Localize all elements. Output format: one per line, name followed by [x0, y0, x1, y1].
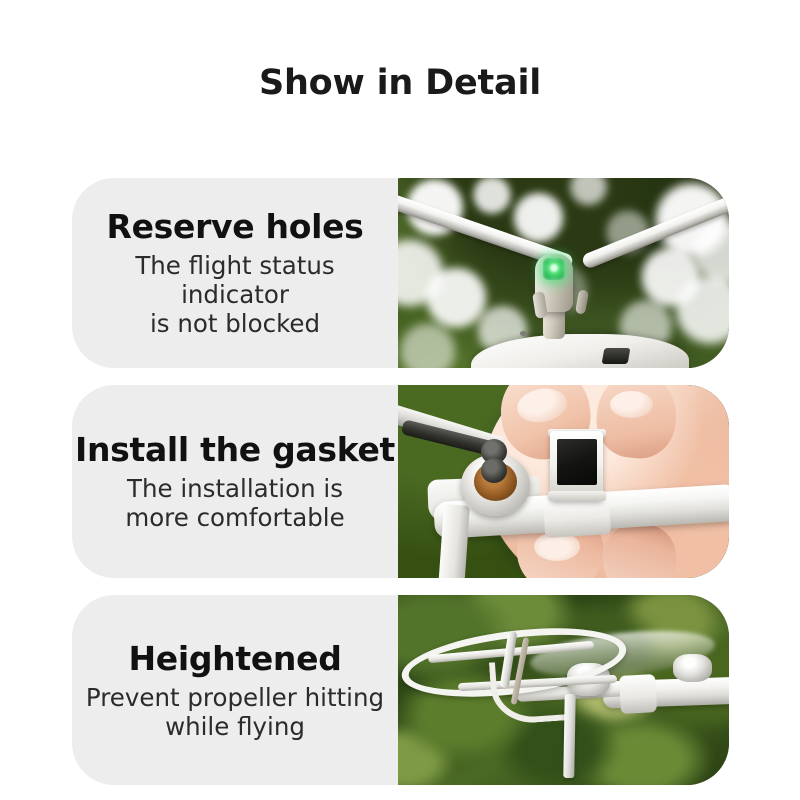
flight-status-indicator-led	[543, 258, 565, 280]
card-text-panel: Heightened Prevent propeller hitting whi…	[72, 595, 398, 785]
card-heading: Install the gasket	[75, 431, 395, 469]
drone-arm-status-indicator-photo	[398, 178, 729, 368]
card-heading: Reserve holes	[106, 208, 363, 246]
drone-motor-rear	[673, 654, 713, 683]
gasket-pad	[557, 439, 597, 485]
card-heading: Heightened	[128, 640, 341, 678]
card-text-panel: Reserve holes The flight status indicato…	[72, 178, 398, 368]
card-subtitle: The flight status indicator is not block…	[82, 251, 388, 338]
drone-landing-leg	[438, 504, 470, 578]
detail-page: Show in Detail Reserve holes The flight …	[0, 0, 800, 800]
hand-installing-gasket-photo	[398, 385, 729, 578]
drone-body-vent	[602, 348, 631, 364]
detail-card-reserve-holes[interactable]: Reserve holes The flight status indicato…	[72, 178, 729, 368]
detail-card-heightened[interactable]: Heightened Prevent propeller hitting whi…	[72, 595, 729, 785]
gasket-holder-tab-bottom	[548, 491, 606, 501]
little-finger	[603, 524, 676, 578]
detail-card-install-the-gasket[interactable]: Install the gasket The installation is m…	[72, 385, 729, 578]
page-title: Show in Detail	[0, 62, 800, 104]
card-subtitle: Prevent propeller hitting while flying	[86, 683, 384, 741]
drone-arm-cap	[543, 495, 611, 538]
card-subtitle: The installation is more comfortable	[125, 474, 344, 532]
heightened-landing-leg	[563, 694, 575, 778]
fingernail	[610, 391, 653, 418]
card-text-panel: Install the gasket The installation is m…	[72, 385, 398, 578]
guard-clamp	[619, 674, 657, 714]
propeller-guard-heightened-photo	[398, 595, 729, 785]
